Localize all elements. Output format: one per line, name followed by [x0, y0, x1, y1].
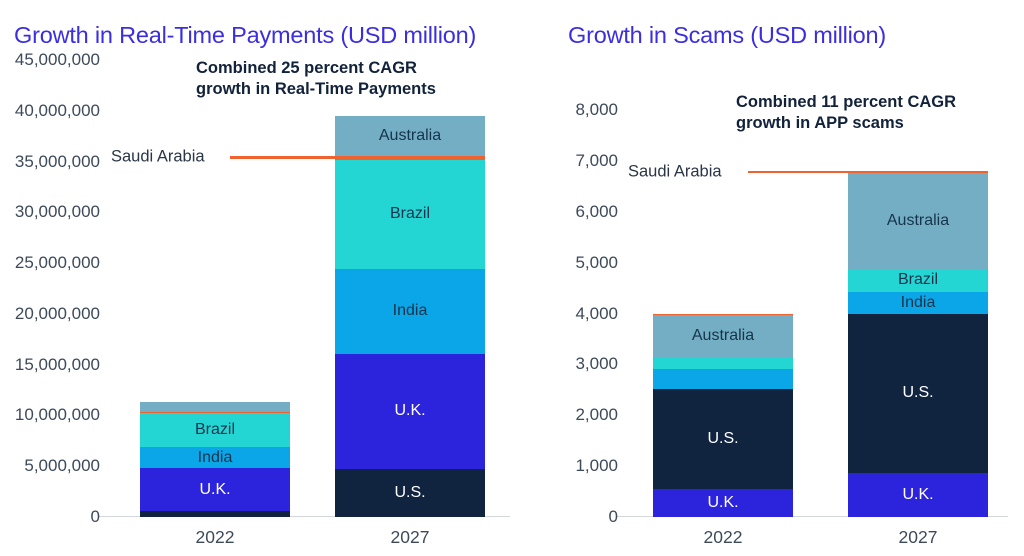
segment-label: Brazil: [195, 422, 235, 438]
bar-segment-australia[interactable]: Australia: [848, 173, 988, 270]
page-title-right: Growth in Scams (USD million): [568, 22, 886, 49]
y-axis-tick-label: 35,000,000: [15, 152, 100, 172]
y-axis-tick-label: 45,000,000: [15, 50, 100, 70]
bar-segment-u-k[interactable]: U.K.: [653, 489, 793, 517]
bar-segment-india[interactable]: [653, 369, 793, 389]
chart-pair: Growth in Real-Time Payments (USD millio…: [0, 0, 1024, 556]
page-title-left: Growth in Real-Time Payments (USD millio…: [14, 22, 476, 49]
y-axis-tick-label: 1,000: [575, 456, 618, 476]
y-axis-tick-label: 10,000,000: [15, 405, 100, 425]
bar-segment-india[interactable]: India: [140, 447, 290, 468]
bar-segment-brazil[interactable]: Brazil: [140, 413, 290, 447]
bar-segment-india[interactable]: India: [848, 292, 988, 314]
plot-area-right: 01,0002,0003,0004,0005,0006,0007,0008,00…: [628, 110, 1008, 517]
bar-2022[interactable]: U.K.U.S.Australia: [653, 314, 793, 518]
segment-label: U.S.: [707, 431, 738, 447]
bar-segment-u-s[interactable]: U.S.: [653, 389, 793, 489]
bar-segment-u-s[interactable]: [140, 511, 290, 517]
segment-label: Brazil: [898, 272, 938, 288]
segment-label: India: [393, 303, 428, 319]
segment-label: U.S.: [394, 485, 425, 501]
segment-label: India: [901, 295, 936, 311]
segment-label: U.K.: [199, 482, 230, 498]
y-axis-tick-label: 8,000: [575, 100, 618, 120]
bar-2027[interactable]: U.K.U.S.IndiaBrazilAustralia: [848, 171, 988, 517]
saudi-arabia-leader-line: [748, 171, 848, 174]
y-axis-tick-label: 4,000: [575, 304, 618, 324]
saudi-arabia-callout-label: Saudi Arabia: [628, 162, 722, 181]
segment-label: U.K.: [902, 487, 933, 503]
bar-segment-saudi-arabia[interactable]: [335, 156, 485, 160]
bar-segment-australia[interactable]: [140, 402, 290, 412]
bar-segment-brazil[interactable]: Brazil: [335, 160, 485, 270]
plot-area-left: 05,000,00010,000,00015,000,00020,000,000…: [110, 60, 510, 517]
segment-label: U.S.: [902, 385, 933, 401]
bar-segment-saudi-arabia[interactable]: [140, 412, 290, 414]
segment-label: U.K.: [394, 403, 425, 419]
bar-2022[interactable]: U.K.IndiaBrazil: [140, 402, 290, 517]
y-axis-tick-label: 5,000: [575, 253, 618, 273]
x-axis-tick-label: 2027: [899, 527, 938, 548]
y-axis-tick-label: 30,000,000: [15, 202, 100, 222]
y-axis-tick-label: 25,000,000: [15, 253, 100, 273]
y-axis-tick-label: 15,000,000: [15, 355, 100, 375]
y-axis-tick-label: 0: [91, 507, 100, 527]
y-axis-tick-label: 40,000,000: [15, 101, 100, 121]
y-axis-tick-label: 20,000,000: [15, 304, 100, 324]
bar-segment-saudi-arabia[interactable]: [848, 171, 988, 173]
x-axis-tick-label: 2027: [391, 527, 430, 548]
segment-label: U.K.: [707, 495, 738, 511]
y-axis-tick-label: 6,000: [575, 202, 618, 222]
x-axis-tick-label: 2022: [196, 527, 235, 548]
saudi-arabia-leader-line: [230, 156, 335, 159]
panel-scams: Growth in Scams (USD million) Combined 1…: [556, 0, 1024, 556]
segment-label: India: [198, 450, 233, 466]
bar-segment-u-s[interactable]: U.S.: [848, 314, 988, 473]
bar-segment-brazil[interactable]: Brazil: [848, 269, 988, 291]
panel-real-time-payments: Growth in Real-Time Payments (USD millio…: [0, 0, 556, 556]
bar-segment-brazil[interactable]: [653, 358, 793, 369]
bar-segment-saudi-arabia[interactable]: [653, 314, 793, 315]
segment-label: Australia: [692, 328, 754, 344]
bar-segment-u-s[interactable]: U.S.: [335, 469, 485, 517]
bar-segment-india[interactable]: India: [335, 269, 485, 353]
bar-2027[interactable]: U.S.U.K.IndiaBrazilAustralia: [335, 116, 485, 517]
y-axis-tick-label: 5,000,000: [24, 456, 100, 476]
segment-label: Australia: [379, 128, 441, 144]
y-axis-tick-label: 7,000: [575, 151, 618, 171]
saudi-arabia-callout-label: Saudi Arabia: [111, 148, 205, 167]
y-axis-tick-label: 3,000: [575, 354, 618, 374]
y-axis-tick-label: 2,000: [575, 405, 618, 425]
bar-segment-australia[interactable]: Australia: [335, 116, 485, 156]
bar-segment-u-k[interactable]: U.K.: [848, 473, 988, 517]
x-axis-tick-label: 2022: [704, 527, 743, 548]
segment-label: Australia: [887, 213, 949, 229]
bar-segment-u-k[interactable]: U.K.: [335, 354, 485, 470]
y-axis-tick-label: 0: [609, 507, 618, 527]
bar-segment-australia[interactable]: Australia: [653, 315, 793, 359]
bar-segment-u-k[interactable]: U.K.: [140, 468, 290, 511]
segment-label: Brazil: [390, 206, 430, 222]
